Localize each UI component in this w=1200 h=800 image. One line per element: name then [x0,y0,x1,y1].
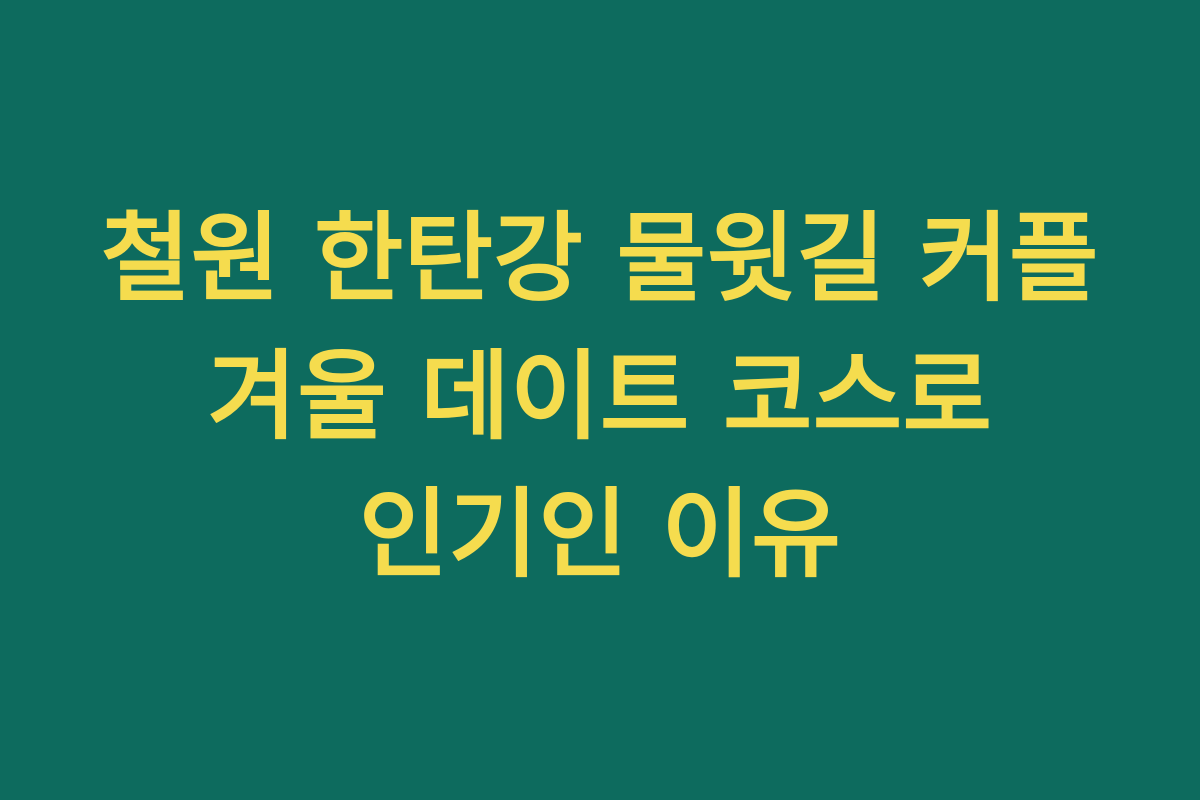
headline-block: 철원 한탄강 물윗길 커플 겨울 데이트 코스로 인기인 이유 [70,190,1130,603]
thumbnail-card: 철원 한탄강 물윗길 커플 겨울 데이트 코스로 인기인 이유 [0,0,1200,800]
headline-title: 철원 한탄강 물윗길 커플 겨울 데이트 코스로 인기인 이유 [70,190,1130,603]
